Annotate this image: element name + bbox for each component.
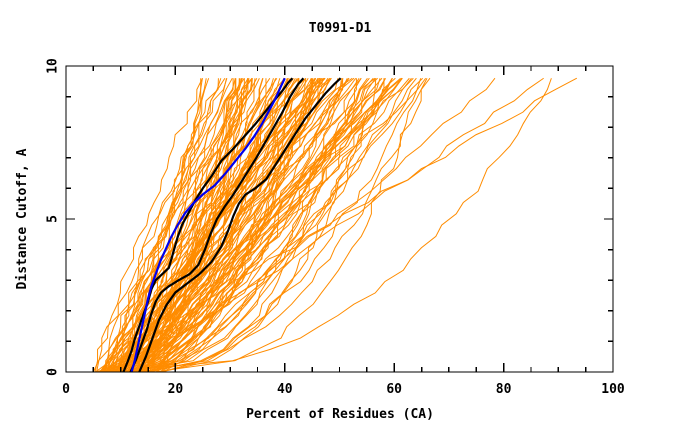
x-tick-label: 80 — [496, 382, 512, 397]
chart-canvas: T0991-D1 0204060801000510 Percent of Res… — [0, 0, 680, 440]
y-axis-title: Distance Cutoff, A — [15, 148, 30, 289]
x-axis-title: Percent of Residues (CA) — [246, 407, 434, 422]
x-tick-label: 0 — [62, 382, 70, 397]
x-tick-label: 20 — [168, 382, 184, 397]
chart-figure: T0991-D1 0204060801000510 Percent of Res… — [0, 0, 680, 440]
chart-title: T0991-D1 — [309, 21, 372, 36]
y-tick-label: 5 — [46, 215, 61, 223]
y-tick-label: 0 — [46, 368, 61, 376]
y-tick-label: 10 — [46, 58, 61, 74]
x-tick-label: 60 — [386, 382, 402, 397]
x-tick-label: 100 — [601, 382, 625, 397]
x-tick-label: 40 — [277, 382, 293, 397]
